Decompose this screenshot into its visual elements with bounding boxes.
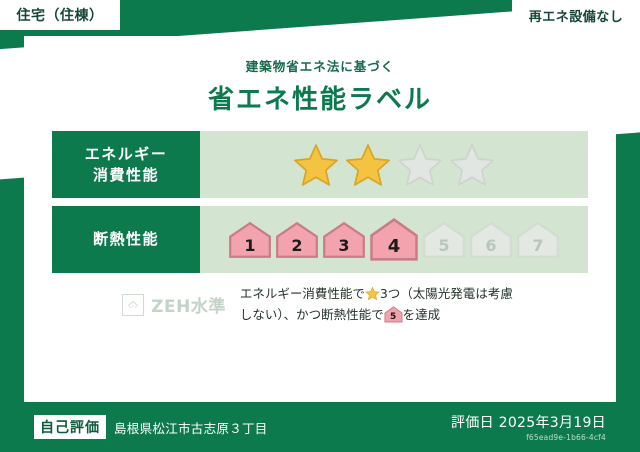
insulation-grade-6: 6 bbox=[469, 221, 513, 259]
zeh-standard-mark: ZEH水準 bbox=[122, 292, 226, 317]
energy-performance-label: 住宅（住棟） 再エネ設備なし 建築物省エネ法に基づく 省エネ性能ラベル エネルギ… bbox=[0, 0, 640, 452]
star-filled-icon bbox=[293, 142, 339, 188]
footer-left-group: 自己評価 島根県松江市古志原３丁目 bbox=[34, 415, 268, 439]
insulation-grade-number: 7 bbox=[532, 238, 543, 259]
label-subtitle: 建築物省エネ法に基づく bbox=[24, 56, 616, 75]
label-card: 建築物省エネ法に基づく 省エネ性能ラベル エネルギー 消費性能 断熱性能 123… bbox=[24, 36, 616, 402]
insulation-grade-4: 4 bbox=[369, 217, 419, 262]
zeh-standard-label: ZEH水準 bbox=[151, 292, 226, 317]
star-empty-icon bbox=[397, 142, 443, 188]
zeh-section: ZEH水準 エネルギー消費性能で 3つ（太陽光発電は考慮しない）、かつ断熱性能で… bbox=[24, 284, 616, 325]
energy-performance-label-box: エネルギー 消費性能 bbox=[52, 131, 200, 198]
insulation-grade-7: 7 bbox=[516, 221, 560, 259]
insulation-performance-label-box: 断熱性能 bbox=[52, 206, 200, 273]
evaluation-date: 評価日 2025年3月19日 bbox=[451, 412, 606, 432]
insulation-grade-3: 3 bbox=[322, 221, 366, 259]
star-empty-icon bbox=[449, 142, 495, 188]
star-rating bbox=[200, 131, 588, 198]
page-title: 省エネ性能ラベル bbox=[24, 79, 616, 116]
insulation-grade-scale: 1234567 bbox=[200, 206, 588, 273]
label-footer: 自己評価 島根県松江市古志原３丁目 評価日 2025年3月19日 f65ead9… bbox=[0, 402, 640, 452]
inline-star-icon bbox=[365, 286, 380, 301]
rating-rows: エネルギー 消費性能 断熱性能 1234567 bbox=[52, 131, 588, 281]
insulation-grade-1: 1 bbox=[228, 221, 272, 259]
building-type-tab: 住宅（住棟） bbox=[0, 0, 120, 30]
insulation-grade-number: 2 bbox=[291, 238, 302, 259]
insulation-grade-number: 3 bbox=[338, 238, 349, 259]
self-evaluation-badge: 自己評価 bbox=[34, 415, 106, 439]
insulation-grade-2: 2 bbox=[275, 221, 319, 259]
zeh-desc-part3: を達成 bbox=[403, 307, 441, 322]
energy-label-line1: エネルギー bbox=[85, 144, 168, 164]
zeh-description: エネルギー消費性能で 3つ（太陽光発電は考慮しない）、かつ断熱性能で 5を達成 bbox=[240, 284, 518, 325]
evaluation-id: f65ead9e-1b66-4cf4 bbox=[451, 433, 606, 442]
renewable-energy-tab: 再エネ設備なし bbox=[512, 0, 640, 30]
zeh-desc-part1: エネルギー消費性能で bbox=[240, 286, 365, 301]
star-filled-icon bbox=[345, 142, 391, 188]
footer-right-group: 評価日 2025年3月19日 f65ead9e-1b66-4cf4 bbox=[451, 412, 606, 442]
insulation-performance-row: 断熱性能 1234567 bbox=[52, 206, 588, 273]
title-block: 建築物省エネ法に基づく 省エネ性能ラベル bbox=[24, 56, 616, 116]
energy-label-line2: 消費性能 bbox=[93, 165, 159, 185]
property-address: 島根県松江市古志原３丁目 bbox=[114, 418, 268, 437]
insulation-grade-5: 5 bbox=[422, 221, 466, 259]
inline-grade-number: 5 bbox=[384, 313, 403, 322]
insulation-grade-number: 4 bbox=[388, 238, 401, 262]
zeh-desc-stars: 3つ（太陽光発電 bbox=[380, 286, 475, 301]
insulation-grade-number: 5 bbox=[438, 238, 449, 259]
insulation-grade-number: 1 bbox=[244, 238, 255, 259]
zeh-house-icon bbox=[122, 294, 144, 316]
inline-grade-badge: 5 bbox=[384, 306, 403, 323]
energy-performance-row: エネルギー 消費性能 bbox=[52, 131, 588, 198]
insulation-label: 断熱性能 bbox=[93, 229, 159, 249]
insulation-grade-number: 6 bbox=[485, 238, 496, 259]
